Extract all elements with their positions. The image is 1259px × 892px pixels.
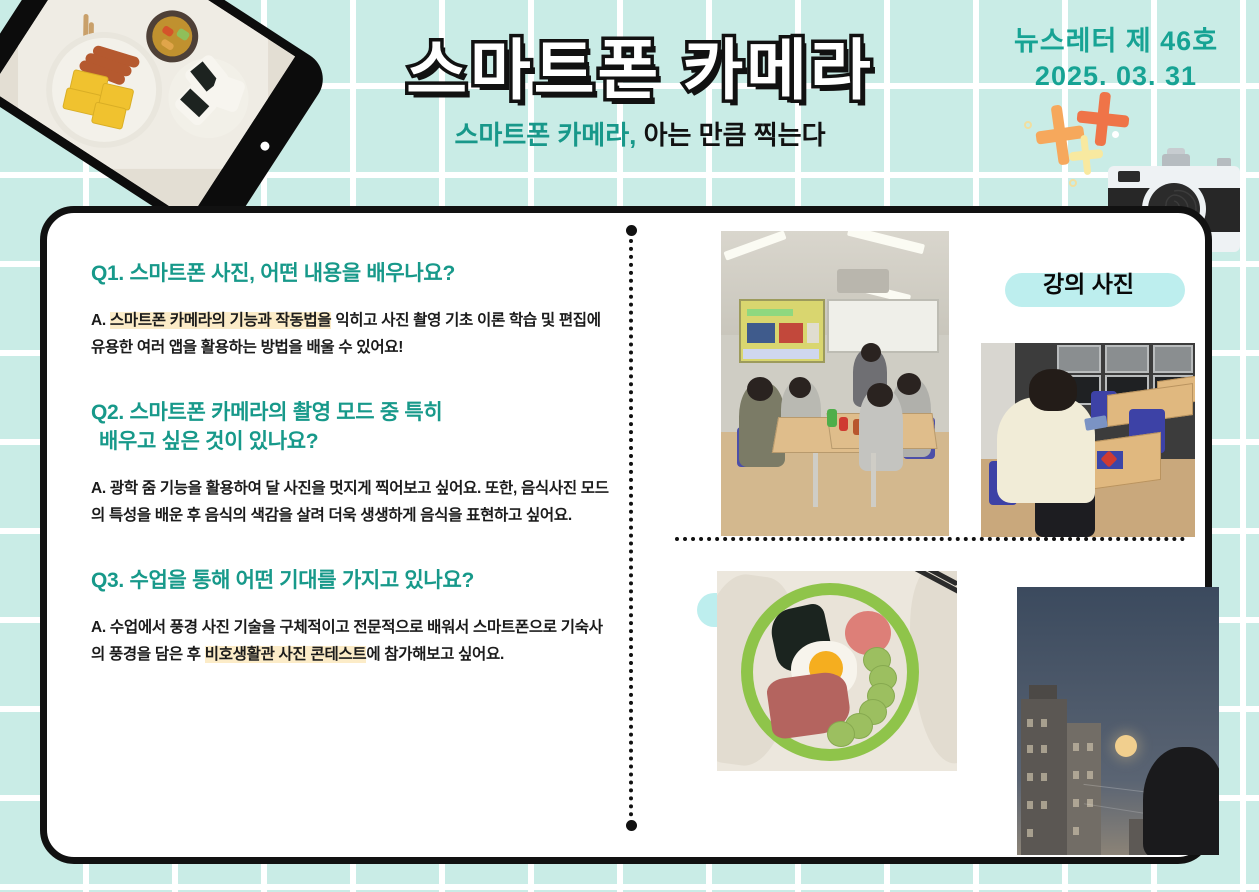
rice-bowl-food-photo — [717, 571, 957, 771]
qa-block-3: Q3. 수업을 통해 어떤 기대를 가지고 있나요? A. 수업에서 풍경 사진… — [91, 566, 611, 669]
ring-decoration-icon — [1069, 179, 1077, 187]
phone-camera-dot — [259, 140, 271, 152]
issue-number: 뉴스레터 제 46호 — [981, 24, 1251, 59]
answer-1: A. 스마트폰 카메라의 기능과 작동법을 익히고 사진 촬영 기초 이론 학습… — [91, 308, 611, 361]
answer-highlight: 스마트폰 카메라의 기능과 작동법을 — [110, 312, 331, 329]
horizontal-dotted-divider — [675, 537, 1185, 541]
answer-prefix: A. — [91, 312, 110, 329]
qa-block-2: Q2. 스마트폰 카메라의 촬영 모드 중 특히 배우고 싶은 것이 있나요? … — [91, 398, 611, 530]
dot-decoration-icon — [1112, 131, 1119, 138]
newsletter-poster: 스마트폰 카메라 스마트폰 카메라, 아는 만큼 찍는다 뉴스레터 제 46호 … — [0, 0, 1259, 892]
poster-header: 스마트폰 카메라 스마트폰 카메라, 아는 만큼 찍는다 — [330, 36, 950, 152]
answer-prefix: A. — [91, 619, 110, 636]
answer-2: A. 광학 줌 기능을 활용하여 달 사진을 멋지게 찍어보고 싶어요. 또한,… — [91, 476, 611, 529]
vertical-dotted-divider — [629, 231, 633, 825]
subtitle-black: 아는 만큼 찍는다 — [636, 120, 825, 150]
answer-highlight-2: 비호생활관 사진 콘테스트 — [205, 646, 367, 663]
page-title: 스마트폰 카메라 — [330, 36, 950, 105]
page-subtitle: 스마트폰 카메라, 아는 만큼 찍는다 — [330, 115, 950, 152]
issue-date: 2025. 03. 31 — [981, 59, 1251, 94]
ring-decoration-icon — [1024, 121, 1032, 129]
photo-area: 강의 사진 — [665, 231, 1195, 831]
question-2-line1: Q2. 스마트폰 카메라의 촬영 모드 중 특히 — [91, 401, 442, 424]
answer-prefix: A. — [91, 480, 110, 497]
qa-block-1: Q1. 스마트폰 사진, 어떤 내용을 배우나요? A. 스마트폰 카메라의 기… — [91, 259, 611, 362]
moon-over-buildings-photo — [1017, 587, 1219, 855]
question-1: Q1. 스마트폰 사진, 어떤 내용을 배우나요? — [91, 259, 611, 288]
student-shooting-desk-photo — [981, 343, 1195, 537]
lecture-section-label: 강의 사진 — [1043, 265, 1134, 299]
classroom-lecture-photo — [721, 231, 949, 536]
question-3: Q3. 수업을 통해 어떤 기대를 가지고 있나요? — [91, 566, 611, 595]
subtitle-teal: 스마트폰 카메라, — [454, 120, 636, 150]
question-2-line2: 배우고 싶은 것이 있나요? — [91, 427, 611, 456]
plus-decoration-icon — [1067, 133, 1105, 176]
answer-rest: 광학 줌 기능을 활용하여 달 사진을 멋지게 찍어보고 싶어요. 또한, 음식… — [91, 480, 609, 524]
issue-info: 뉴스레터 제 46호 2025. 03. 31 — [981, 24, 1251, 93]
answer-3: A. 수업에서 풍경 사진 기술을 구체적이고 전문적으로 배워서 스마트폰으로… — [91, 615, 611, 668]
answer-tail: 에 참가해보고 싶어요. — [366, 646, 504, 663]
question-2: Q2. 스마트폰 카메라의 촬영 모드 중 특히 배우고 싶은 것이 있나요? — [91, 398, 611, 457]
content-card: Q1. 스마트폰 사진, 어떤 내용을 배우나요? A. 스마트폰 카메라의 기… — [40, 206, 1212, 864]
qa-column: Q1. 스마트폰 사진, 어떤 내용을 배우나요? A. 스마트폰 카메라의 기… — [91, 259, 611, 669]
